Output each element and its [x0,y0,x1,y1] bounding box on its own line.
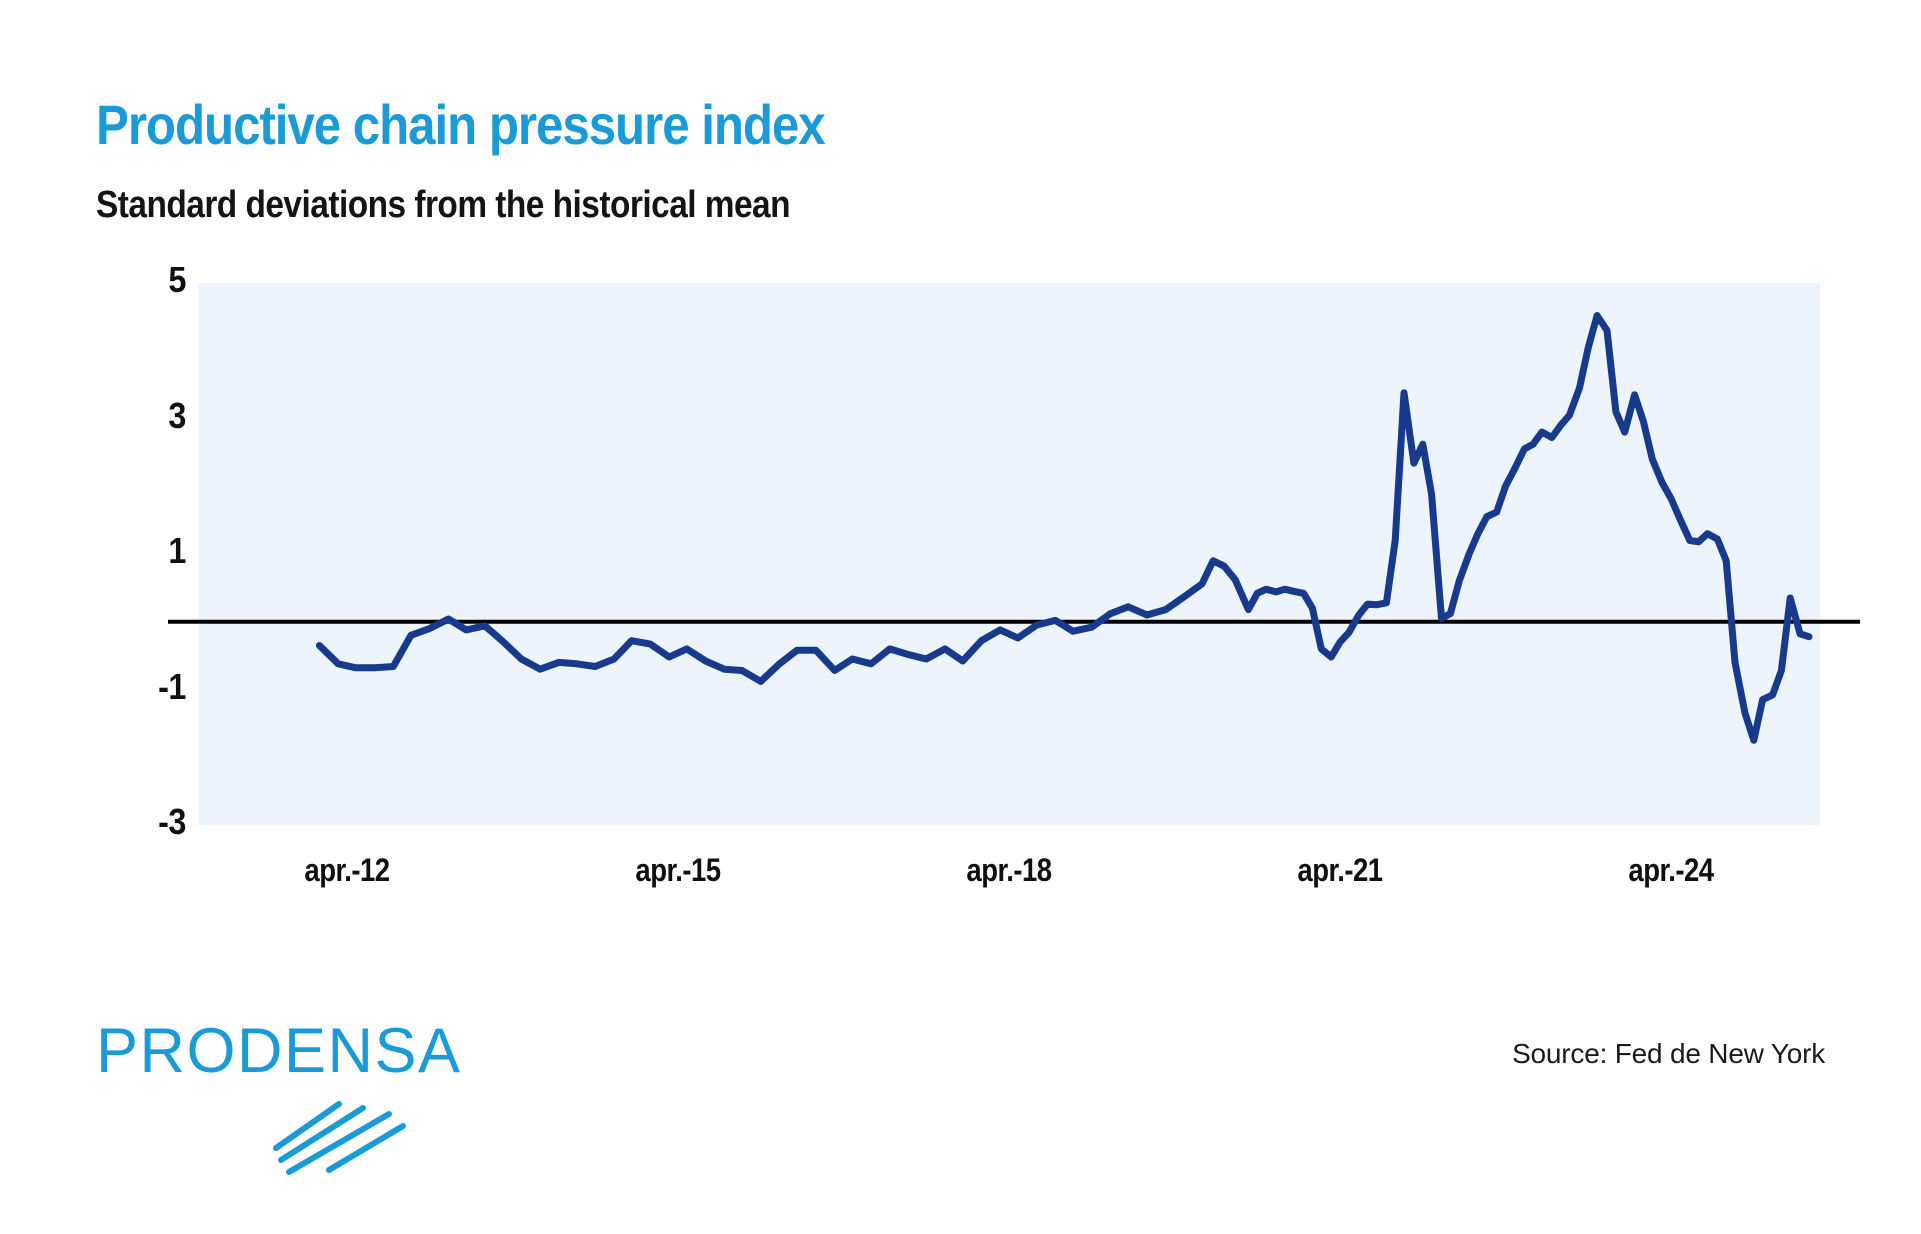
logo-stripes-icon [251,1086,451,1176]
prodensa-logo: PRODENSA [96,1020,456,1170]
series-line-tail-segment [1735,598,1809,740]
chart-page: Productive chain pressure index Standard… [0,0,1921,1234]
series-line-productive-chain-pressure-index [319,316,1735,682]
source-note: Source: Fed de New York [1512,1038,1825,1070]
logo-wordmark: PRODENSA [96,1020,456,1083]
